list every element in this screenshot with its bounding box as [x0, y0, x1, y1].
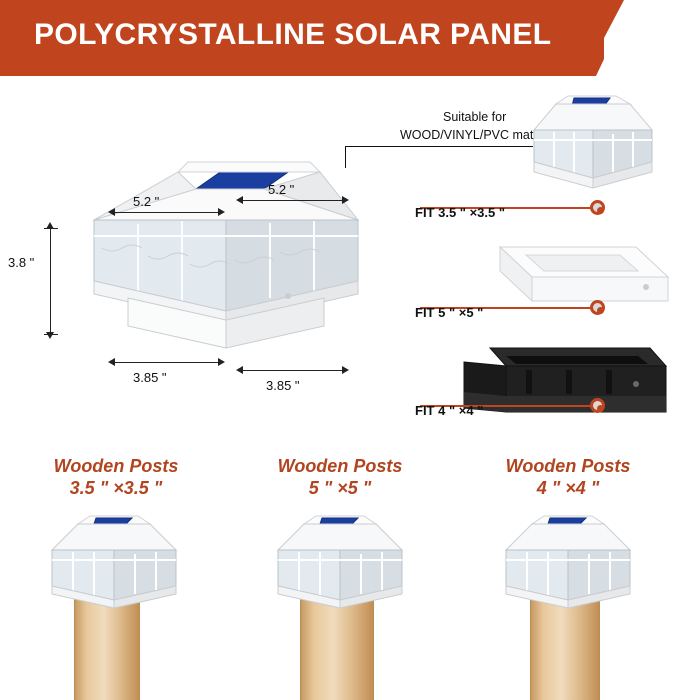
post-5-cap-svg: [262, 510, 422, 620]
suitable-note-leader: [345, 146, 346, 168]
dim-base-left-width: 3.85 ": [133, 370, 167, 385]
fit-4-label: FIT 4 " ×4 ": [415, 403, 483, 418]
post-4-title-line1: Wooden Posts: [468, 455, 668, 477]
dim-arrow-base-left-start: [108, 358, 115, 366]
dim-line-base-right: [240, 370, 344, 371]
dim-height: 3.8 ": [8, 255, 34, 270]
post-4-cap-svg: [490, 510, 650, 620]
post-3-5-cap-svg: [36, 510, 196, 620]
post-4-title: Wooden Posts 4 " ×4 ": [468, 455, 668, 499]
fit-3-5-marker-dot: [590, 200, 605, 215]
dim-line-top-left: [112, 212, 220, 213]
post-5-title-line2: 5 " ×5 ": [240, 477, 440, 499]
header-banner-notch-cut: [596, 0, 632, 76]
dim-arrow-top-left-start: [108, 208, 115, 216]
dim-arrow-base-left-end: [218, 358, 225, 366]
post-3-5-title-line2: 3.5 " ×3.5 ": [16, 477, 216, 499]
dim-line-height: [50, 228, 51, 334]
dim-base-right-width: 3.85 ": [266, 378, 300, 393]
dim-arrow-top-left-end: [218, 208, 225, 216]
post-5-title-line1: Wooden Posts: [240, 455, 440, 477]
infographic-root: POLYCRYSTALLINE SOLAR PANEL: [0, 0, 679, 700]
fit-5-label: FIT 5 " ×5 ": [415, 305, 483, 320]
fit-4-marker-dot-center: [597, 405, 604, 412]
dim-arrow-base-right-start: [236, 366, 243, 374]
dim-top-left-width: 5.2 ": [133, 194, 159, 209]
main-cap-svg: [58, 148, 378, 388]
dim-tick-height-top: [44, 228, 58, 229]
fit-5-marker-dot: [590, 300, 605, 315]
dim-arrow-top-right-start: [236, 196, 243, 204]
post-3-5-title: Wooden Posts 3.5 " ×3.5 ": [16, 455, 216, 499]
dim-tick-height-bottom: [44, 334, 58, 335]
dim-line-base-left: [112, 362, 220, 363]
post-4-title-line2: 4 " ×4 ": [468, 477, 668, 499]
bracket-4-svg: [440, 340, 670, 440]
fit-4-marker-dot: [590, 398, 605, 413]
post-3-5-title-line1: Wooden Posts: [16, 455, 216, 477]
tray-5-svg: [460, 243, 670, 333]
suitable-note-line1: Suitable for: [443, 110, 506, 124]
suitable-note-underline: [345, 146, 533, 147]
dim-arrow-base-right-end: [342, 366, 349, 374]
dim-line-top-right: [240, 200, 344, 201]
page-title: POLYCRYSTALLINE SOLAR PANEL: [34, 18, 552, 52]
fit-3-5-marker-dot-center: [597, 207, 604, 214]
small-cap-3-5-svg: [512, 90, 672, 200]
dim-arrow-top-right-end: [342, 196, 349, 204]
post-5-title: Wooden Posts 5 " ×5 ": [240, 455, 440, 499]
dim-top-right-width: 5.2 ": [268, 182, 294, 197]
header-banner: POLYCRYSTALLINE SOLAR PANEL: [0, 0, 679, 76]
fit-5-marker-dot-center: [597, 307, 604, 314]
fit-3-5-label: FIT 3.5 " ×3.5 ": [415, 205, 505, 220]
